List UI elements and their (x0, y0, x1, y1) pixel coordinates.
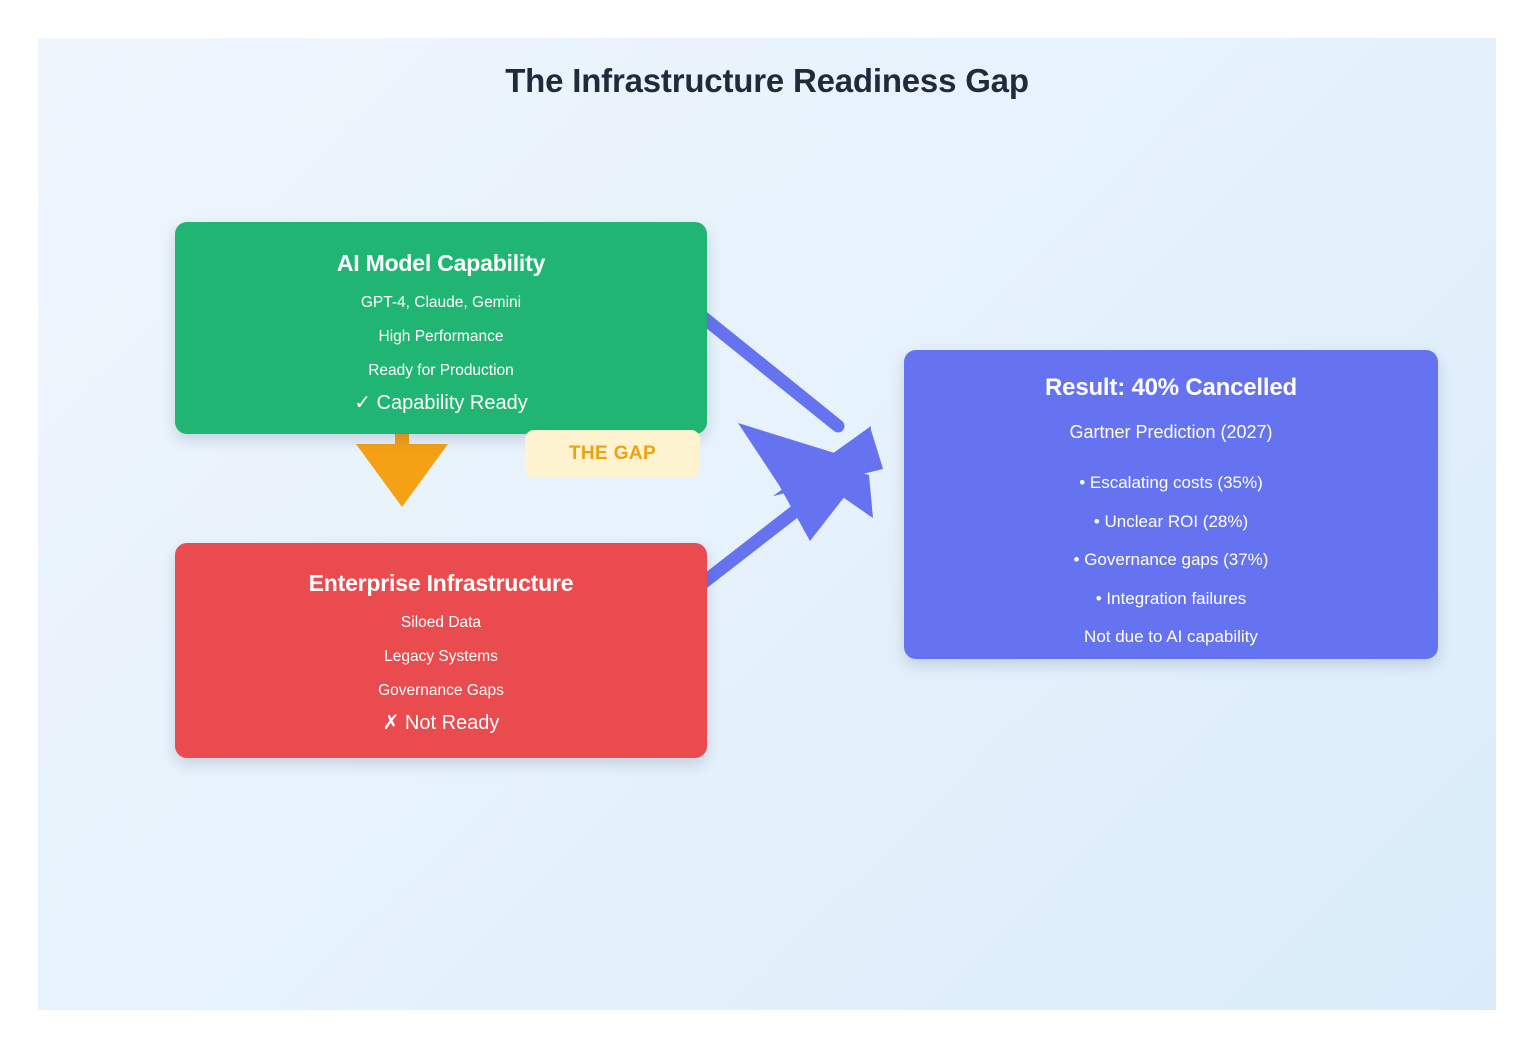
node-capability-line-2: High Performance (379, 328, 504, 346)
node-ai-model-capability[interactable]: AI Model Capability GPT-4, Claude, Gemin… (175, 222, 707, 434)
node-result-subtitle: Gartner Prediction (2027) (1069, 422, 1272, 444)
gap-badge: THE GAP (525, 430, 700, 478)
node-result-bullet-1: • Escalating costs (35%) (1079, 473, 1263, 493)
node-capability-line-1: GPT-4, Claude, Gemini (361, 294, 521, 312)
gap-badge-label: THE GAP (569, 443, 656, 465)
node-infrastructure-line-1: Siloed Data (401, 614, 481, 632)
node-capability-status: ✓ Capability Ready (354, 391, 528, 415)
node-infrastructure-line-2: Legacy Systems (384, 648, 498, 666)
node-infrastructure-title: Enterprise Infrastructure (309, 570, 574, 598)
node-infrastructure-line-3: Governance Gaps (378, 682, 504, 700)
node-result-bullet-3: • Governance gaps (37%) (1074, 550, 1269, 570)
page-title: The Infrastructure Readiness Gap (38, 62, 1496, 100)
node-capability-title: AI Model Capability (337, 250, 545, 278)
node-result-footer: Not due to AI capability (1084, 627, 1258, 647)
node-infrastructure-status: ✗ Not Ready (383, 711, 500, 735)
node-result-bullet-4: • Integration failures (1096, 589, 1247, 609)
node-capability-line-3: Ready for Production (368, 362, 514, 380)
node-result-bullet-2: • Unclear ROI (28%) (1094, 512, 1248, 532)
diagram-canvas: The Infrastructure Readiness Gap (0, 0, 1536, 1050)
arrow-convergence-head (738, 423, 870, 541)
diagram-card: The Infrastructure Readiness Gap (38, 38, 1496, 1010)
node-result-title: Result: 40% Cancelled (1045, 374, 1297, 403)
node-enterprise-infrastructure[interactable]: Enterprise Infrastructure Siloed Data Le… (175, 543, 707, 758)
node-result[interactable]: Result: 40% Cancelled Gartner Prediction… (904, 350, 1438, 659)
